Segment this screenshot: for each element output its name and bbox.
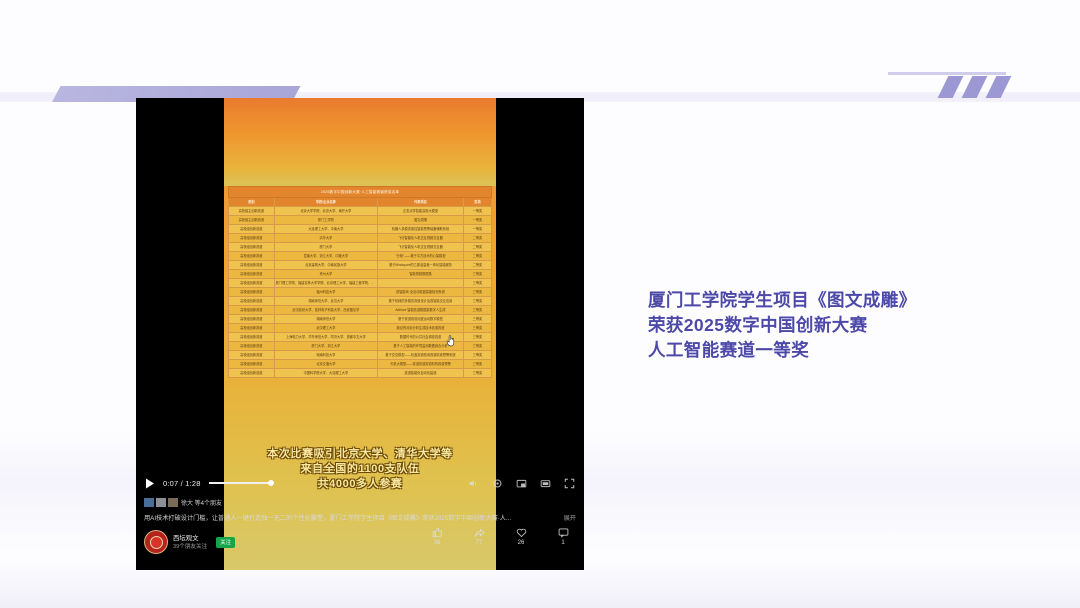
table-row: 高校组创新赛道贵州大学智能视频数据集三等奖 — [228, 270, 492, 279]
table-row: 高校组创新赛道湖南师范大学基于赛道赛前测迹运动数字模型三等奖 — [228, 315, 492, 324]
table-cell: 贵州大学 — [275, 270, 378, 278]
account-name: 西坛观文 — [173, 534, 207, 543]
table-cell: 三等奖 — [464, 297, 491, 305]
table-row: 高校组创新赛道厦门理工学院、福建农林大学学院、北京理工大学、福建工程学院、三明学… — [228, 279, 492, 288]
account-followers: 39个朋友关注 — [173, 543, 207, 551]
fullscreen-icon[interactable] — [564, 478, 575, 489]
table-cell: 新目的对影分析生成技术赛道赛道 — [378, 324, 464, 332]
table-row: 高校组主创新赛道北京大学学院、北京大学、南开大学正态点学智能高用大模型一等奖 — [228, 207, 492, 216]
table-cell: 三等奖 — [464, 324, 491, 332]
table-cell: 北京大学学院、北京大学、南开大学 — [275, 207, 378, 215]
hand-pointer-cursor — [446, 334, 456, 347]
table-cell: 高校组创新赛道 — [229, 324, 275, 332]
award-table-body: 高校组主创新赛道北京大学学院、北京大学、南开大学正态点学智能高用大模型一等奖高校… — [228, 207, 492, 378]
table-cell: 一等奖 — [464, 216, 491, 224]
table-cell: 赣南科技大学 — [275, 351, 378, 359]
table-cell: 三等奖 — [464, 342, 491, 350]
stat-item[interactable]: 77 — [466, 526, 492, 546]
table-cell: 一等奖 — [464, 207, 491, 215]
table-cell: 高校组创新赛道 — [229, 360, 275, 368]
table-cell: 高校组创新赛道 — [229, 234, 275, 242]
headline-line-2: 荣获2025数字中国创新大赛 — [648, 313, 978, 338]
table-cell: 高校组创新赛道 — [229, 225, 275, 233]
table-cell: 高校组创新赛道 — [229, 261, 275, 269]
slash-mark-1 — [938, 76, 964, 98]
table-cell: 厦门大学 — [275, 243, 378, 251]
table-cell: 高校组创新赛道 — [229, 252, 275, 260]
table-cell: 厦门理工学院、福建农林大学学院、北京理工大学、福建工程学院、三明学院、中南科学技… — [275, 279, 378, 287]
comment-icon[interactable] — [558, 526, 569, 538]
table-cell: 武汉理工大学 — [275, 324, 378, 332]
table-cell: 北京建筑大学、中南民族大学 — [275, 261, 378, 269]
progress-knob[interactable] — [268, 480, 274, 486]
column-header-category: 类别 — [229, 198, 275, 206]
table-cell: 赛智能驾·全自动赛篮智能检测系统 — [378, 288, 464, 296]
table-row: 高校组创新赛道北京交通大学天机大模型——赛道赛道赛道机构赛道预警三等奖 — [228, 360, 492, 369]
stat-count: 36 — [434, 540, 441, 546]
table-cell: 武汉纺织大学、桂林电子科技大学、西安图论学 — [275, 306, 378, 314]
progress-fill — [209, 482, 271, 484]
table-cell: 中国科学院大学、大连理工大学 — [275, 369, 378, 377]
table-cell: 三等奖 — [464, 279, 491, 287]
stat-item[interactable]: 26 — [508, 526, 534, 546]
table-cell: 基于空空模型——包盖赛道检测赛道精准预警系统 — [378, 351, 464, 359]
table-cell: 三等奖 — [464, 288, 491, 296]
friend-avatars — [144, 498, 178, 507]
player-right-controls[interactable] — [468, 478, 575, 489]
video-stage: 2025数字中国创新大赛·人工智能赛道获奖名单 类别 学校/企业名称 代表项目 … — [224, 98, 496, 570]
table-cell: 高校组创新赛道 — [229, 315, 275, 323]
table-cell: 飞行智能化人机交互视频交互器 — [378, 234, 464, 242]
table-cell: 二等奖 — [464, 234, 491, 242]
follow-button[interactable]: 关注 — [216, 537, 235, 548]
table-cell: 三等奖 — [464, 351, 491, 359]
table-cell: 基于Mindspore的乙基油温差一体化智能服务 — [378, 261, 464, 269]
table-row: 高校组创新赛道暨南大学、浙江大学、印度大学"分帧"——基于平方技术的心智模型二等… — [228, 252, 492, 261]
friend-avatar-1 — [144, 498, 154, 507]
table-row: 高校组创新赛道湖南师范大学、武汉大学基于机械的多模态赛道设计及赛智能交互应用三等… — [228, 297, 492, 306]
table-cell: 高校组创新赛道 — [229, 369, 275, 377]
decorative-line-right — [888, 72, 1006, 75]
player-control-bar[interactable]: 0:07 / 1:28 — [136, 472, 584, 494]
table-row: 高校组创新赛道武汉纺织大学、桂林电子科技大学、西安图论学Adblore 智能赛道… — [228, 306, 492, 315]
table-row: 高校组创新赛道赣南科技大学基于空空模型——包盖赛道检测赛道精准预警系统三等奖 — [228, 351, 492, 360]
table-cell: 二等奖 — [464, 261, 491, 269]
table-cell: 三等奖 — [464, 369, 491, 377]
picture-in-picture-icon[interactable] — [516, 478, 527, 489]
stat-item[interactable]: 36 — [424, 526, 450, 546]
theater-mode-icon[interactable] — [540, 478, 551, 489]
table-cell: 高校组主创新赛道 — [229, 216, 275, 224]
table-cell: 正态点学智能高用大模型 — [378, 207, 464, 215]
table-cell: 暨南大学、浙江大学、印度大学 — [275, 252, 378, 260]
table-cell: 厦门大学、浙江大学 — [275, 342, 378, 350]
table-cell — [378, 279, 464, 287]
table-cell: 高校组主创新赛道 — [229, 207, 275, 215]
table-cell: 三等奖 — [464, 315, 491, 323]
table-cell: 福州科技大学 — [275, 288, 378, 296]
award-table: 2025数字中国创新大赛·人工智能赛道获奖名单 类别 学校/企业名称 代表项目 … — [228, 186, 492, 378]
video-player[interactable]: 2025数字中国创新大赛·人工智能赛道获奖名单 类别 学校/企业名称 代表项目 … — [136, 98, 584, 570]
friend-avatar-3 — [168, 498, 178, 507]
video-description-text: 用AI技术打破设计门槛，让普通人一键打造独一无二的个性化雕塑，厦门工学院学生项目… — [144, 513, 560, 522]
table-cell: 机器人多模态操控智能预警装备辅助系统 — [378, 225, 464, 233]
table-cell: 上海电力大学、华东师范大学、同济大学、首都中文大学 — [275, 333, 378, 341]
table-cell: 基于机械的多模态赛道设计及赛智能交互应用 — [378, 297, 464, 305]
table-cell: 高校组创新赛道 — [229, 306, 275, 314]
table-cell: 高校组创新赛道 — [229, 288, 275, 296]
table-cell: 高校组创新赛道 — [229, 279, 275, 287]
table-cell: 一等奖 — [464, 225, 491, 233]
table-cell: 三等奖 — [464, 270, 491, 278]
table-row: 高校组创新赛道大连理工大学、中南大学机器人多模态操控智能预警装备辅助系统一等奖 — [228, 225, 492, 234]
volume-icon[interactable] — [468, 478, 479, 489]
table-row: 高校组创新赛道中国科学院大学、大连理工大学赛道智能化自动化建造三等奖 — [228, 369, 492, 378]
stat-item[interactable]: 1 — [550, 526, 576, 546]
table-cell: 赛道智能化自动化建造 — [378, 369, 464, 377]
column-header-award: 奖项 — [464, 198, 491, 206]
play-icon[interactable] — [144, 477, 156, 489]
table-cell: 高校组创新赛道 — [229, 297, 275, 305]
avatar-emblem — [150, 536, 163, 549]
account-info: 西坛观文 39个朋友关注 — [173, 534, 207, 551]
table-cell: 北京交通大学 — [275, 360, 378, 368]
table-row: 高校组创新赛道清华大学飞行智能化人机交互视频交互器二等奖 — [228, 234, 492, 243]
award-table-header-row: 类别 学校/企业名称 代表项目 奖项 — [228, 198, 492, 207]
friend-avatar-2 — [156, 498, 166, 507]
table-cell: 高校组创新赛道 — [229, 342, 275, 350]
table-cell: 二等奖 — [464, 243, 491, 251]
friends-watched-label: 徐大 等4个朋友 — [181, 498, 222, 507]
table-cell: Adblore 智能赛道数据赛数字人生成 — [378, 306, 464, 314]
stat-count: 26 — [518, 540, 525, 546]
table-cell: 天机大模型——赛道赛道赛道机构赛道预警 — [378, 360, 464, 368]
table-cell: 高校组创新赛道 — [229, 270, 275, 278]
table-cell: 三等奖 — [464, 333, 491, 341]
table-cell: 湖南师范大学 — [275, 315, 378, 323]
decorative-slashes-right — [943, 76, 1006, 98]
table-cell: 智能视频数据集 — [378, 270, 464, 278]
expand-description-button[interactable]: 展开 — [564, 513, 576, 522]
table-cell: 清华大学 — [275, 234, 378, 242]
account-row[interactable]: 西坛观文 39个朋友关注 关注 — [144, 530, 235, 554]
table-row: 高校组创新赛道福州科技大学赛智能驾·全自动赛篮智能检测系统三等奖 — [228, 288, 492, 297]
table-cell: 基于赛道赛前测迹运动数字模型 — [378, 315, 464, 323]
award-table-title: 2025数字中国创新大赛·人工智能赛道获奖名单 — [228, 186, 492, 198]
page-headline: 厦门工学院学生项目《图文成雕》 荣获2025数字中国创新大赛 人工智能赛道一等奖 — [648, 288, 978, 363]
video-description[interactable]: 用AI技术打破设计门槛，让普通人一键打造独一无二的个性化雕塑，厦门工学院学生项目… — [144, 513, 576, 522]
stat-count: 77 — [476, 540, 483, 546]
table-cell: 三等奖 — [464, 306, 491, 314]
table-cell: 图文成雕 — [378, 216, 464, 224]
stat-count: 1 — [561, 540, 564, 546]
table-cell: 三等奖 — [464, 360, 491, 368]
table-row: 高校组创新赛道北京建筑大学、中南民族大学基于Mindspore的乙基油温差一体化… — [228, 261, 492, 270]
table-cell: 高校组创新赛道 — [229, 243, 275, 251]
video-hero-gradient — [224, 98, 496, 186]
column-header-project: 代表项目 — [378, 198, 464, 206]
table-row: 高校组创新赛道厦门大学飞行智能化人机交互视频交互器二等奖 — [228, 243, 492, 252]
thumbs-up-icon[interactable] — [432, 526, 443, 538]
settings-gear-icon[interactable] — [492, 478, 503, 489]
avatar[interactable] — [144, 530, 168, 554]
table-cell: 飞行智能化人机交互视频交互器 — [378, 243, 464, 251]
progress-bar[interactable] — [209, 482, 271, 484]
subtitle-line-1: 本次比赛吸引北京大学、清华大学等 — [136, 447, 584, 462]
time-display: 0:07 / 1:28 — [163, 479, 201, 488]
table-row: 高校组创新赛道武汉理工大学新目的对影分析生成技术赛道赛道三等奖 — [228, 324, 492, 333]
headline-line-3: 人工智能赛道一等奖 — [648, 338, 978, 363]
slash-mark-2 — [962, 76, 988, 98]
share-icon[interactable] — [474, 526, 485, 538]
table-cell: "分帧"——基于平方技术的心智模型 — [378, 252, 464, 260]
headline-line-1: 厦门工学院学生项目《图文成雕》 — [648, 288, 978, 313]
table-cell: 二等奖 — [464, 252, 491, 260]
friends-watched-row[interactable]: 徐大 等4个朋友 — [144, 498, 222, 507]
table-cell: 高校组创新赛道 — [229, 351, 275, 359]
heart-icon[interactable] — [516, 526, 527, 538]
table-cell: 高校组创新赛道 — [229, 333, 275, 341]
table-cell: 厦门工学院 — [275, 216, 378, 224]
table-row: 高校组主创新赛道厦门工学院图文成雕一等奖 — [228, 216, 492, 225]
column-header-school: 学校/企业名称 — [275, 198, 378, 206]
engagement-stats[interactable]: 3677261 — [424, 526, 576, 546]
table-cell: 湖南师范大学、武汉大学 — [275, 297, 378, 305]
table-cell: 大连理工大学、中南大学 — [275, 225, 378, 233]
